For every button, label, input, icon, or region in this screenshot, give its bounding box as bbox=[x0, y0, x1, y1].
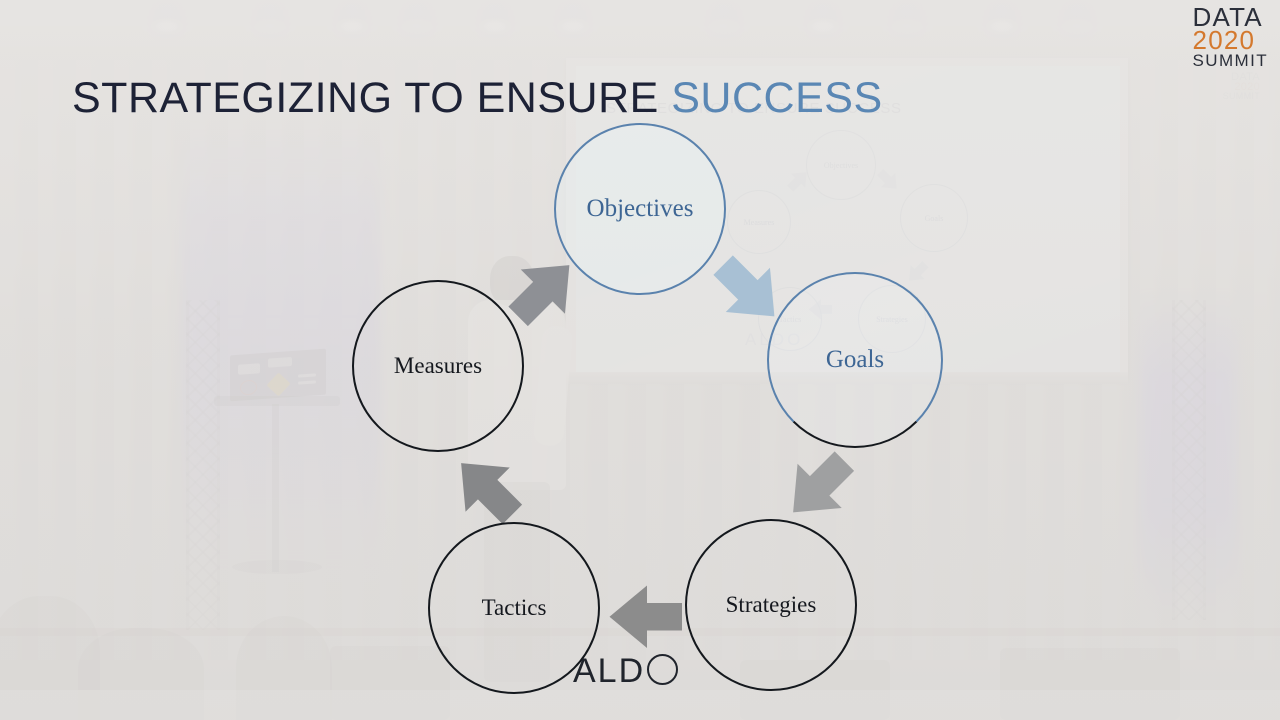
diagram-node-objectives[interactable]: Objectives bbox=[554, 123, 726, 295]
brand-line-year: 2020 bbox=[1193, 29, 1268, 52]
diagram-node-strategies[interactable]: Strategies bbox=[685, 519, 857, 691]
diagram-node-label: Goals bbox=[826, 346, 884, 374]
arrow-tactics-to-measures bbox=[448, 450, 526, 533]
slide-title-highlight: SUCCESS bbox=[671, 74, 882, 122]
arrow-goals-to-strategies bbox=[780, 448, 858, 531]
diagram-node-label: Measures bbox=[394, 353, 482, 379]
diagram-node-measures[interactable]: Measures bbox=[352, 280, 524, 452]
diagram-node-label: Strategies bbox=[726, 592, 817, 618]
video-frame: STRATEGIZING TO ENSURE SUCCESS DATA 2020… bbox=[0, 0, 1280, 720]
page-title: STRATEGIZING TO ENSURE SUCCESS bbox=[72, 74, 883, 123]
aldo-logo-o-ring bbox=[647, 654, 678, 685]
diagram-node-label: Objectives bbox=[587, 195, 694, 223]
diagram-node-label: Tactics bbox=[482, 595, 547, 621]
arrow-measures-to-objectives bbox=[505, 252, 583, 335]
slide-overlay: STRATEGIZING TO ENSURE SUCCESS DATA 2020… bbox=[0, 0, 1280, 720]
aldo-logo-text: ALD bbox=[573, 652, 645, 690]
diagram-node-goals[interactable]: Goals bbox=[767, 272, 943, 448]
aldo-logo: ALD bbox=[573, 652, 678, 691]
arrow-strategies-to-tactics bbox=[607, 578, 685, 661]
brand-line-summit: SUMMIT bbox=[1193, 53, 1268, 68]
brand-logo: DATA 2020 SUMMIT bbox=[1193, 6, 1268, 68]
slide-title-main: STRATEGIZING TO ENSURE bbox=[72, 74, 671, 122]
